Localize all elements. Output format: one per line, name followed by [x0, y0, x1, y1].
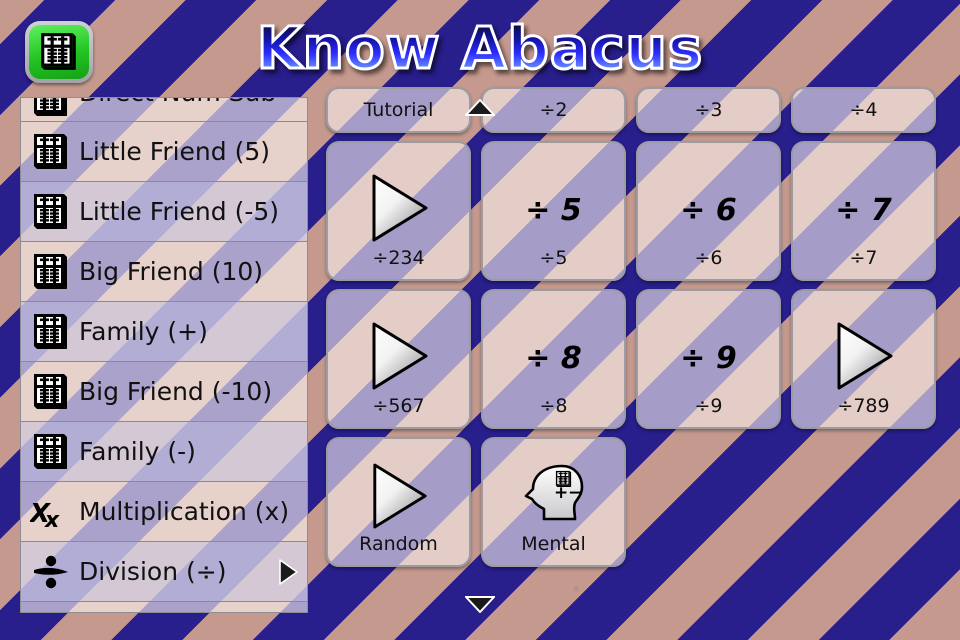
sidebar-item-label: Division (÷) [73, 557, 226, 586]
tile-caption: ÷4 [849, 99, 877, 121]
tile-footer-label: ÷9 [638, 395, 779, 417]
play-triangle-icon [368, 321, 430, 391]
tile-caption: Tutorial [364, 99, 434, 121]
play-triangle-icon [368, 321, 430, 391]
abacus-icon [32, 192, 70, 232]
tile-divide-5[interactable]: ÷ 5÷5 [481, 141, 626, 281]
chevron-right-icon[interactable] [277, 558, 299, 586]
tile-operation-label: ÷ 8 [525, 344, 581, 374]
tile-row: Random+−Mental [326, 437, 948, 567]
svg-text:+: + [554, 483, 568, 503]
sidebar-item-label: Multiplication (x) [73, 497, 289, 526]
tile-operation-label: ÷ 9 [680, 344, 736, 374]
sidebar-item-label: Big Friend (-10) [73, 377, 272, 406]
tile-divide-6[interactable]: ÷ 6÷6 [636, 141, 781, 281]
tile-divide-567[interactable]: ÷567 [326, 289, 471, 429]
triangle-up-icon[interactable] [465, 99, 495, 116]
tile-divide-9[interactable]: ÷ 9÷9 [636, 289, 781, 429]
sidebar-item-direct-num-sub[interactable]: Direct Num Sub [21, 98, 307, 122]
abacus-icon [29, 371, 73, 413]
tile-caption: ÷3 [694, 99, 722, 121]
abacus-icon [29, 98, 73, 120]
abacus-icon [29, 191, 73, 233]
sidebar-item-big-friend-10[interactable]: Big Friend (10) [21, 242, 307, 302]
svg-text:x: x [44, 508, 60, 531]
sidebar-item-label: Little Friend (5) [73, 137, 270, 166]
tile-operation-label: ÷ 5 [525, 196, 581, 226]
sidebar-item-label: Family (-) [73, 437, 196, 466]
tile-operation-label: ÷ 6 [680, 196, 736, 226]
sidebar-item-big-friend-10[interactable]: Big Friend (-10) [21, 362, 307, 422]
tile-footer-label: ÷567 [328, 395, 469, 417]
exercise-tile-grid: Tutorial÷2÷3÷4÷234÷ 5÷5÷ 6÷6÷ 7÷7÷567÷ 8… [326, 97, 948, 619]
sidebar-item-label: Big Friend (10) [73, 257, 263, 286]
play-triangle-icon [369, 462, 429, 530]
tile-footer-label: ÷234 [328, 247, 469, 269]
abacus-icon [32, 312, 70, 352]
abacus-icon [29, 131, 73, 173]
tile-divide-789[interactable]: ÷789 [791, 289, 936, 429]
abacus-icon [29, 251, 73, 293]
multiply-icon: Xx [30, 493, 72, 531]
tile-row: ÷567÷ 8÷8÷ 9÷9÷789 [326, 289, 948, 429]
sidebar-item-family[interactable]: Family (-) [21, 422, 307, 482]
abacus-icon [32, 98, 70, 119]
triangle-down-icon[interactable] [465, 596, 495, 613]
chevron-right-icon[interactable] [277, 558, 299, 586]
play-triangle-icon [368, 173, 430, 243]
tile-footer-label: ÷8 [483, 395, 624, 417]
tile-operation-label: ÷ 7 [835, 196, 891, 226]
tile-footer-label: ÷6 [638, 247, 779, 269]
sidebar-item-label: Direct Num Sub [73, 98, 276, 107]
sidebar-item-division[interactable]: Division (÷) [21, 542, 307, 602]
sidebar-item-label: Little Friend (-5) [73, 197, 279, 226]
tile-row: ÷234÷ 5÷5÷ 6÷6÷ 7÷7 [326, 141, 948, 281]
sidebar-item-family[interactable]: Family (+) [21, 302, 307, 362]
svg-text:−: − [568, 483, 582, 503]
mental-head-icon: +− [522, 463, 586, 529]
tile-random[interactable]: Random [326, 437, 471, 567]
multiply-icon: Xx [29, 491, 73, 533]
play-triangle-icon [368, 173, 430, 243]
abacus-icon [29, 431, 73, 473]
abacus-icon [32, 432, 70, 472]
abacus-icon [32, 132, 70, 172]
tile-caption: ÷2 [539, 99, 567, 121]
app-root: Know Abacus Direct Num SubLittle Friend … [0, 0, 960, 640]
divide-icon [31, 552, 71, 592]
tile-mental[interactable]: +−Mental [481, 437, 626, 567]
app-header: Know Abacus [0, 0, 960, 96]
tile-divide-7[interactable]: ÷ 7÷7 [791, 141, 936, 281]
play-triangle-icon [833, 321, 895, 391]
sidebar-item-little-friend-5[interactable]: Little Friend (5) [21, 122, 307, 182]
tile-footer-label: Mental [483, 533, 624, 555]
tile-row: Tutorial÷2÷3÷4 [326, 97, 948, 133]
tile-divide-234[interactable]: ÷234 [326, 141, 471, 281]
sidebar-item-label: Family (+) [73, 317, 208, 346]
sidebar-item-little-friend-5[interactable]: Little Friend (-5) [21, 182, 307, 242]
sidebar-item-multiplication-x[interactable]: XxMultiplication (x) [21, 482, 307, 542]
abacus-icon [32, 252, 70, 292]
mental-head-icon: +− [522, 463, 586, 529]
tile-footer-label: ÷5 [483, 247, 624, 269]
lesson-menu-panel[interactable]: Direct Num SubLittle Friend (5)Little Fr… [20, 97, 308, 613]
tile-divide-8[interactable]: ÷ 8÷8 [481, 289, 626, 429]
play-triangle-icon [833, 321, 895, 391]
play-triangle-icon [369, 462, 429, 530]
abacus-icon [29, 311, 73, 353]
abacus-icon [32, 372, 70, 412]
page-title: Know Abacus [0, 13, 960, 83]
tile-footer-label: Random [328, 533, 469, 555]
tile-footer-label: ÷7 [793, 247, 934, 269]
tile-footer-label: ÷789 [793, 395, 934, 417]
divide-icon [29, 551, 73, 593]
